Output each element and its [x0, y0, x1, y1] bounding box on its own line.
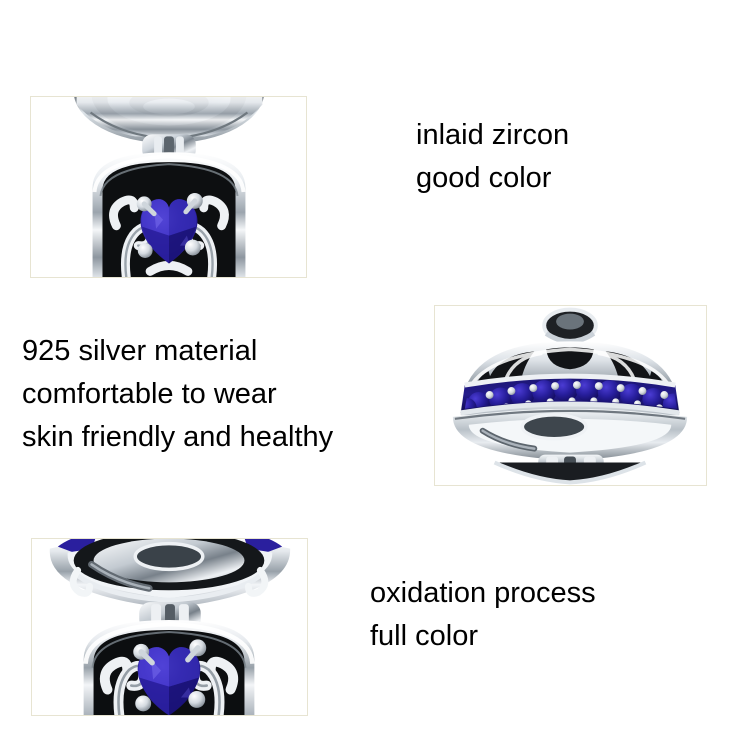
photo-oxidised-charm-closeup: [32, 539, 307, 715]
heart-zircon-illustration: [31, 97, 306, 277]
photo-frame-heart-zircon-closeup: [30, 96, 307, 278]
caption-oxidation-process-line-1: oxidation process: [370, 572, 596, 615]
photo-heart-zircon-closeup: [31, 97, 306, 277]
caption-oxidation-process-line-2: full color: [370, 615, 596, 658]
caption-silver-material: 925 silver material comfortable to wear …: [22, 330, 333, 459]
caption-inlaid-zircon: inlaid zircon good color: [416, 114, 569, 200]
caption-oxidation-process: oxidation process full color: [370, 572, 596, 658]
pave-band-illustration: [435, 306, 706, 485]
photo-frame-pave-band-closeup: [434, 305, 707, 486]
caption-silver-material-line-1: 925 silver material: [22, 330, 333, 373]
caption-inlaid-zircon-line-2: good color: [416, 157, 569, 200]
photo-frame-oxidised-charm-closeup: [31, 538, 308, 716]
oxidised-charm-illustration: [32, 539, 307, 715]
caption-silver-material-line-3: skin friendly and healthy: [22, 416, 333, 459]
product-detail-banner: inlaid zircon good color 925 silver mate…: [0, 0, 750, 750]
photo-pave-band-closeup: [435, 306, 706, 485]
caption-inlaid-zircon-line-1: inlaid zircon: [416, 114, 569, 157]
caption-silver-material-line-2: comfortable to wear: [22, 373, 333, 416]
